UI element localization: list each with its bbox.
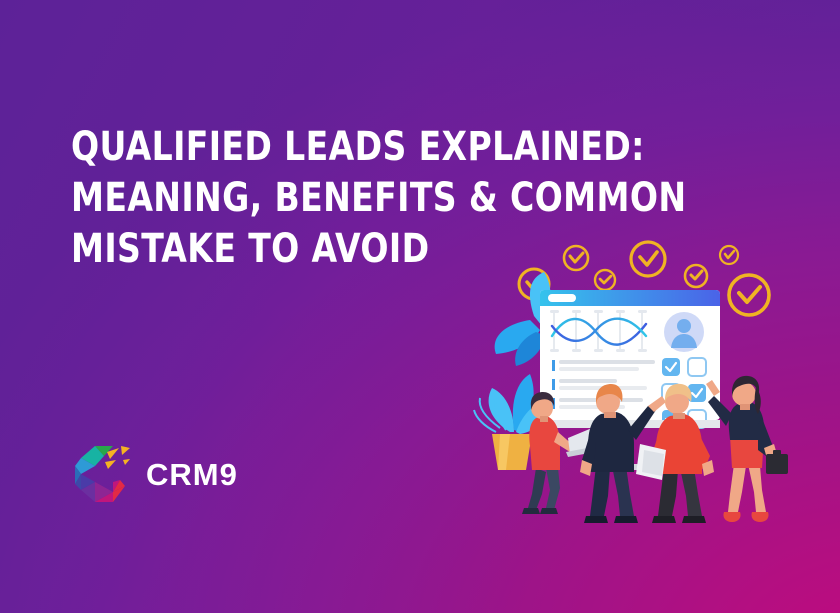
crm9-hexagon-c-mark-icon (73, 444, 133, 506)
blog-title-banner: Qualified Leads Explained: Meaning, Bene… (0, 0, 840, 613)
briefcase-icon (766, 454, 788, 474)
title-line-1: Qualified Leads Explained: (71, 122, 549, 173)
checkbox-checked (662, 358, 680, 376)
illustration-canvas (470, 232, 840, 532)
yellow-check-circle-icon (729, 275, 769, 315)
yellow-check-circle-icon (564, 246, 588, 270)
avatar-icon (664, 312, 704, 352)
yellow-check-circle-icon (595, 270, 615, 290)
dashboard-screen (540, 290, 720, 428)
plant-pot (492, 434, 532, 470)
yellow-check-circle-icon (720, 246, 738, 264)
hero-illustration (470, 232, 840, 532)
title-line-2: Meaning, Benefits & Common (71, 173, 549, 224)
brand-wordmark: CRM9 (146, 457, 238, 493)
checkbox-unchecked (688, 358, 706, 376)
yellow-check-circle-icon (685, 265, 707, 287)
brand-logo[interactable]: CRM9 (73, 444, 238, 506)
yellow-check-circle-icon (631, 242, 665, 276)
screen-title-pill (548, 294, 576, 302)
